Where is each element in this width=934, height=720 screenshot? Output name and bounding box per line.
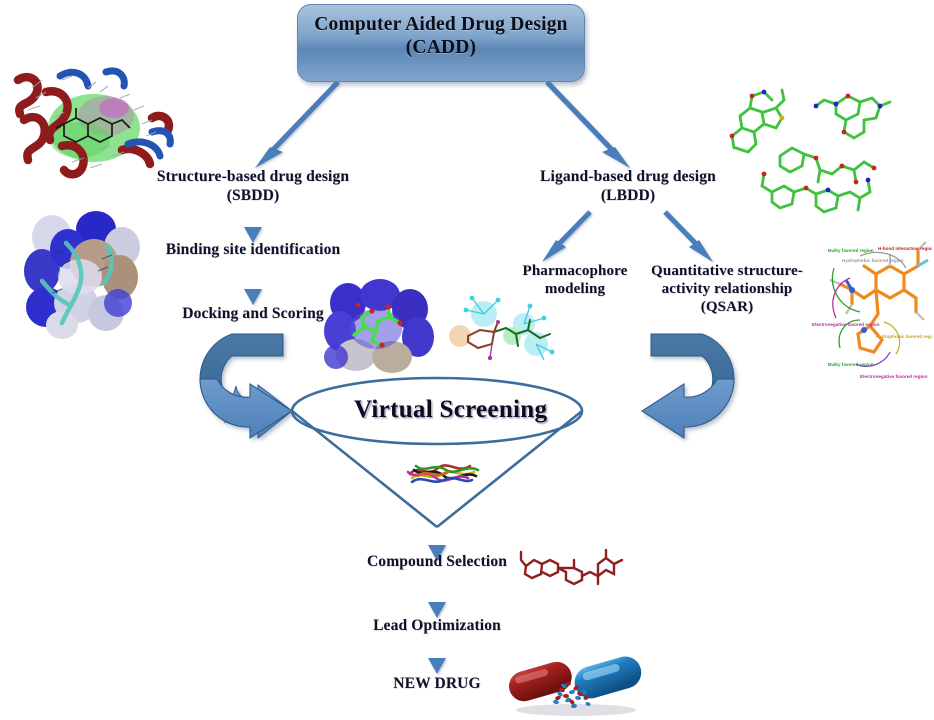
diagram-canvas: Bulky favored region H-bond interaction … (0, 0, 934, 720)
node-qsar: Quantitative structure- activity relatio… (643, 262, 811, 316)
svg-text:Bulky favored region: Bulky favored region (828, 362, 874, 367)
drug-capsule-figure (502, 648, 648, 718)
svg-text:Bulky favored region: Bulky favored region (828, 248, 874, 253)
cadd-title-box: Computer Aided Drug Design (CADD) (297, 4, 585, 82)
cyclic-arrow-right (642, 334, 734, 438)
node-docking-and-scoring: Docking and Scoring (156, 305, 350, 324)
node-binding-site-identification: Binding site identification (145, 241, 361, 260)
svg-text:Electronegative favored region: Electronegative favored region (812, 322, 880, 327)
svg-text:H-bond interaction region: H-bond interaction region (878, 246, 932, 251)
protein-ensemble-figure (402, 452, 486, 492)
node-sbdd: Structure-based drug design (SBDD) (133, 168, 373, 205)
svg-text:Electronegative favored region: Electronegative favored region (860, 374, 928, 379)
pharmacophore-model-figure (432, 292, 562, 368)
node-compound-selection: Compound Selection (340, 553, 534, 572)
node-lbdd: Ligand-based drug design (LBDD) (517, 168, 739, 205)
ligand-library-figure (718, 78, 932, 214)
qsar-contour-map-figure: Bulky favored region H-bond interaction … (806, 226, 932, 384)
arrow-binding-site-to-docking (244, 270, 262, 305)
arrow-compound-to-lead (428, 585, 446, 618)
node-new-drug: NEW DRUG (370, 675, 504, 694)
arrow-sbdd-to-binding-site (244, 208, 262, 243)
molecular-surface-binding-site-figure (22, 207, 146, 343)
arrow-lbdd-to-pharmacophore (542, 212, 590, 262)
node-virtual-screening: Virtual Screening (354, 396, 547, 424)
svg-text:Hydrophobic favored region: Hydrophobic favored region (876, 334, 932, 339)
node-pharmacophore-modeling: Pharmacophore modeling (500, 262, 650, 298)
docked-ligand-surface-figure (322, 277, 438, 377)
svg-text:Hydrophobic favored region: Hydrophobic favored region (842, 258, 904, 263)
lead-compound-structure-figure (518, 546, 626, 592)
arrow-lead-to-new-drug (428, 641, 446, 674)
arrow-lbdd-to-qsar (665, 212, 713, 262)
cadd-title-text: Computer Aided Drug Design (CADD) (298, 14, 584, 59)
arrow-cadd-to-sbdd (255, 82, 338, 168)
node-lead-optimization: Lead Optimization (352, 617, 522, 636)
cyclic-arrow-left (200, 334, 292, 438)
arrow-cadd-to-lbdd (547, 82, 630, 168)
